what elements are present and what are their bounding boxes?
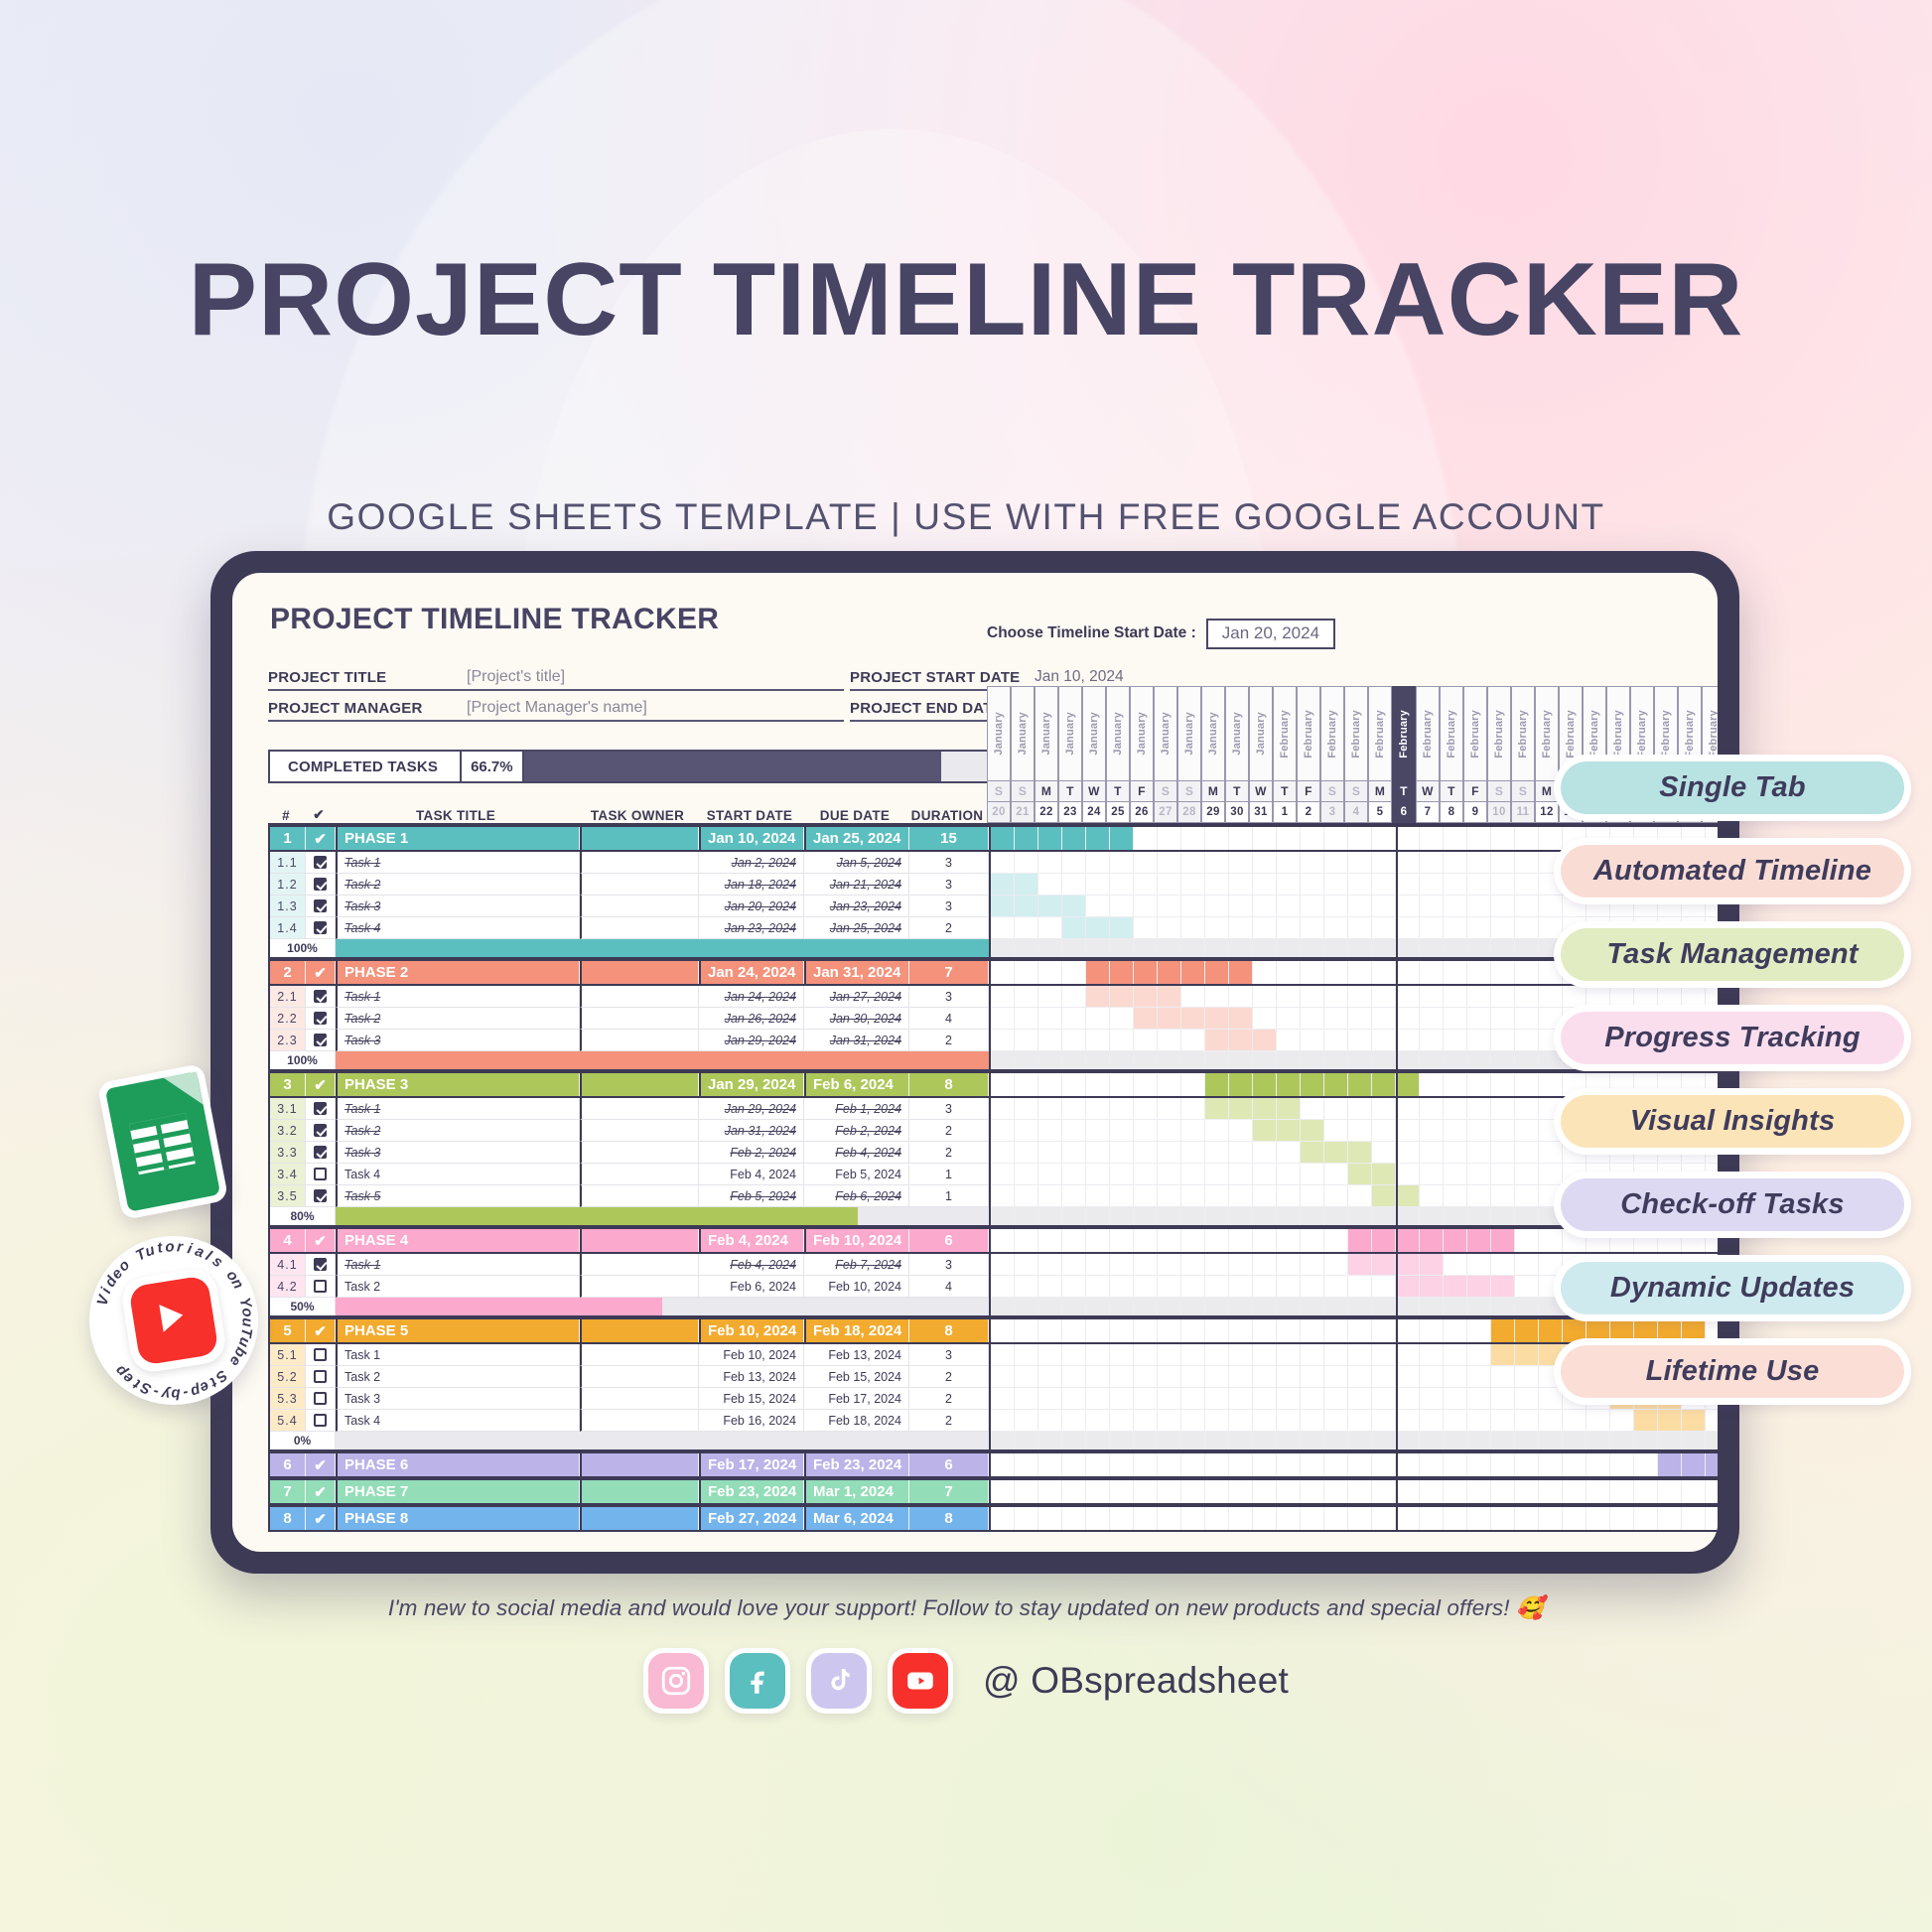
gantt-cell — [1205, 1142, 1229, 1164]
gantt-cell — [1110, 1073, 1134, 1096]
task-number: 5.4 — [270, 1410, 306, 1432]
social-handle: @ OBspreadsheet — [983, 1660, 1289, 1702]
phase-due-date: Feb 6, 2024 — [804, 1073, 909, 1096]
phase-duration: 8 — [909, 1319, 989, 1342]
gantt-cell — [1158, 1388, 1181, 1410]
task-duration: 3 — [909, 986, 989, 1008]
calendar-weekday-cell: S — [987, 781, 1011, 802]
gantt-cell — [1277, 874, 1301, 896]
gantt-cell — [1062, 1432, 1086, 1449]
task-checkbox[interactable] — [306, 1008, 336, 1030]
gantt-cell — [1134, 1185, 1158, 1207]
gantt-cell — [991, 1098, 1015, 1120]
checkbox-icon — [314, 899, 327, 912]
gantt-cell — [1515, 939, 1539, 957]
phase-start-date: Feb 27, 2024 — [699, 1507, 804, 1530]
gantt-cell — [1491, 852, 1515, 874]
gantt-cell — [1181, 896, 1205, 917]
task-owner[interactable] — [580, 1164, 699, 1185]
gantt-cell — [1205, 827, 1229, 850]
gantt-cell — [1348, 827, 1372, 850]
gantt-cell — [1158, 1120, 1181, 1142]
task-row[interactable]: 5.2Task 2Feb 13, 2024Feb 15, 20242 — [270, 1366, 989, 1388]
task-row[interactable]: 2.2Task 2Jan 26, 2024Jan 30, 20244 — [270, 1008, 989, 1030]
gantt-cell — [1134, 1319, 1158, 1342]
gantt-cell — [1229, 827, 1253, 850]
gantt-cell — [1444, 1344, 1467, 1366]
gantt-cell — [991, 1229, 1015, 1252]
gantt-cell — [1372, 1229, 1396, 1252]
phase-progress-fill — [336, 1298, 662, 1315]
checkbox-icon — [314, 1146, 327, 1159]
feature-badge[interactable]: Visual Insights — [1554, 1088, 1911, 1155]
gantt-cell — [1086, 1229, 1110, 1252]
task-due-date: Jan 5, 2024 — [804, 852, 909, 874]
phase-due-date: Feb 10, 2024 — [804, 1229, 909, 1252]
phase-number: 4 — [270, 1229, 306, 1252]
gantt-cell — [1277, 1319, 1301, 1342]
task-start-date: Jan 29, 2024 — [699, 1030, 804, 1051]
task-row[interactable]: 3.3Task 3Feb 2, 2024Feb 4, 20242 — [270, 1142, 989, 1164]
feature-badge[interactable]: Automated Timeline — [1554, 838, 1911, 904]
gantt-cell — [1134, 986, 1158, 1008]
gantt-cell — [1062, 1388, 1086, 1410]
task-owner[interactable] — [580, 1142, 699, 1164]
task-owner[interactable] — [580, 874, 699, 896]
task-checkbox[interactable] — [306, 1098, 336, 1120]
calendar-weekday-cell: S — [1154, 781, 1177, 802]
calendar-month-cell: January — [1130, 686, 1154, 781]
task-checkbox[interactable] — [306, 917, 336, 939]
gantt-cell — [1158, 827, 1181, 850]
gantt-cell — [1038, 1185, 1062, 1207]
gantt-cell — [1086, 1344, 1110, 1366]
task-row[interactable]: 5.4Task 4Feb 16, 2024Feb 18, 20242 — [270, 1410, 989, 1432]
calendar-day-cell: 10 — [1487, 802, 1511, 823]
gantt-cell — [1324, 874, 1348, 896]
gantt-cell — [1444, 1164, 1467, 1185]
gantt-cell — [1015, 827, 1038, 850]
calendar-column: FebruaryT1 — [1273, 686, 1297, 823]
phase-duration: 8 — [909, 1073, 989, 1096]
gantt-cell — [1467, 1432, 1491, 1449]
gantt-cell — [1706, 1432, 1718, 1449]
phase-row[interactable]: 6✔PHASE 6Feb 17, 2024Feb 23, 20246 — [270, 1451, 989, 1478]
gantt-cell — [1062, 917, 1086, 939]
phase-title: PHASE 8 — [336, 1507, 580, 1530]
gantt-cell — [1515, 1142, 1539, 1164]
gantt-cell — [1610, 1432, 1634, 1449]
task-row[interactable]: 5.1Task 1Feb 10, 2024Feb 13, 20243 — [270, 1344, 989, 1366]
gantt-cell — [1015, 1298, 1038, 1315]
gantt-cell — [1086, 852, 1110, 874]
choose-date-label: Choose Timeline Start Date : — [987, 624, 1196, 642]
feature-badge[interactable]: Single Tab — [1554, 755, 1911, 821]
task-title: Task 1 — [336, 1344, 580, 1366]
gantt-cell — [1396, 896, 1420, 917]
gantt-cell — [1348, 1164, 1372, 1185]
gantt-cell — [1134, 1366, 1158, 1388]
gantt-cell — [1491, 1051, 1515, 1069]
phase-start-date: Jan 10, 2024 — [699, 827, 804, 850]
gantt-cell — [1444, 1298, 1467, 1315]
phase-owner — [580, 1319, 699, 1342]
task-title: Task 2 — [336, 874, 580, 896]
gantt-cell — [1372, 939, 1396, 957]
gantt-cell — [1158, 986, 1181, 1008]
gantt-cell — [1420, 1030, 1444, 1051]
task-owner[interactable] — [580, 1388, 699, 1410]
phase-row[interactable]: 1✔PHASE 1Jan 10, 2024Jan 25, 202415 — [270, 825, 989, 852]
gantt-cell — [1134, 1344, 1158, 1366]
gantt-cell — [1062, 1051, 1086, 1069]
gantt-cell — [1038, 1388, 1062, 1410]
gantt-cell — [1110, 1432, 1134, 1449]
gantt-cell — [1277, 1453, 1301, 1476]
gantt-cell — [1062, 1276, 1086, 1298]
gantt-cell — [1420, 1164, 1444, 1185]
col-header-owner: TASK OWNER — [578, 808, 697, 823]
task-duration: 3 — [909, 1098, 989, 1120]
gantt-cell — [1205, 1229, 1229, 1252]
calendar-month-cell: January — [1249, 686, 1273, 781]
gantt-cell — [1372, 1098, 1396, 1120]
phase-row[interactable]: 3✔PHASE 3Jan 29, 2024Feb 6, 20248 — [270, 1071, 989, 1098]
gantt-cell — [1348, 1480, 1372, 1503]
task-owner[interactable] — [580, 896, 699, 917]
gantt-cell — [1444, 827, 1467, 850]
task-due-date: Jan 25, 2024 — [804, 917, 909, 939]
completed-tasks-fill — [524, 752, 941, 781]
gantt-cell — [1420, 1098, 1444, 1120]
calendar-day-cell: 31 — [1249, 802, 1273, 823]
gantt-cell — [1158, 1098, 1181, 1120]
phase-progress-percent: 0% — [270, 1432, 336, 1449]
task-row[interactable]: 1.3Task 3Jan 20, 2024Jan 23, 20243 — [270, 896, 989, 917]
task-due-date: Feb 18, 2024 — [804, 1410, 909, 1432]
gantt-cell — [1253, 1098, 1277, 1120]
gantt-progress-row — [991, 1432, 1718, 1451]
gantt-cell — [1301, 917, 1324, 939]
phase-title: PHASE 6 — [336, 1453, 580, 1476]
task-owner[interactable] — [580, 1008, 699, 1030]
gantt-cell — [1324, 1073, 1348, 1096]
calendar-month-cell: January — [1201, 686, 1225, 781]
gantt-cell — [1181, 1344, 1205, 1366]
phase-row[interactable]: 8✔PHASE 8Feb 27, 2024Mar 6, 20248 — [270, 1505, 989, 1532]
col-header-due: DUE DATE — [802, 808, 907, 823]
checkbox-icon — [314, 1258, 327, 1271]
feature-badge[interactable]: Progress Tracking — [1554, 1005, 1911, 1071]
task-row[interactable]: 2.1Task 1Jan 24, 2024Jan 27, 20243 — [270, 986, 989, 1008]
task-row[interactable]: 3.1Task 1Jan 29, 2024Feb 1, 20243 — [270, 1098, 989, 1120]
gantt-cell — [1181, 1164, 1205, 1185]
gantt-cell — [1301, 1030, 1324, 1051]
gantt-cell — [1491, 1298, 1515, 1315]
task-owner[interactable] — [580, 986, 699, 1008]
gantt-cell — [991, 1410, 1015, 1432]
gantt-cell — [1015, 1480, 1038, 1503]
gantt-cell — [1467, 1120, 1491, 1142]
gantt-cell — [1229, 1229, 1253, 1252]
task-owner[interactable] — [580, 1276, 699, 1298]
gantt-cell — [991, 1388, 1015, 1410]
gantt-cell — [1396, 986, 1420, 1008]
gantt-cell — [1467, 1098, 1491, 1120]
task-row[interactable]: 2.3Task 3Jan 29, 2024Jan 31, 20242 — [270, 1030, 989, 1051]
task-owner[interactable] — [580, 1185, 699, 1207]
gantt-cell — [1420, 986, 1444, 1008]
task-duration: 2 — [909, 917, 989, 939]
sheet-title: PROJECT TIMELINE TRACKER — [270, 603, 719, 636]
gantt-cell — [1491, 1164, 1515, 1185]
feature-badge[interactable]: Task Management — [1554, 921, 1911, 988]
gantt-cell — [991, 1366, 1015, 1388]
phase-number: 2 — [270, 961, 306, 984]
task-start-date: Jan 20, 2024 — [699, 896, 804, 917]
gantt-cell — [1658, 1432, 1682, 1449]
gantt-cell — [1229, 917, 1253, 939]
task-owner[interactable] — [580, 917, 699, 939]
instagram-icon-glyph — [648, 1653, 704, 1709]
task-owner[interactable] — [580, 1120, 699, 1142]
task-checkbox[interactable] — [306, 1185, 336, 1207]
gantt-cell — [1467, 1480, 1491, 1503]
task-checkbox[interactable] — [306, 1366, 336, 1388]
gantt-cell — [1205, 939, 1229, 957]
phase-duration: 15 — [909, 827, 989, 850]
youtube-social-icon[interactable] — [888, 1648, 953, 1714]
gantt-cell — [1253, 1073, 1277, 1096]
gantt-cell — [1324, 961, 1348, 984]
task-owner[interactable] — [580, 1410, 699, 1432]
gantt-cell — [1015, 1254, 1038, 1276]
gantt-cell — [1086, 1276, 1110, 1298]
task-checkbox[interactable] — [306, 852, 336, 874]
task-owner[interactable] — [580, 1366, 699, 1388]
task-row[interactable]: 1.2Task 2Jan 18, 2024Jan 21, 20243 — [270, 874, 989, 896]
gantt-cell — [1110, 1051, 1134, 1069]
gantt-cell — [1086, 1432, 1110, 1449]
task-row[interactable]: 5.3Task 3Feb 15, 2024Feb 17, 20242 — [270, 1388, 989, 1410]
gantt-cell — [1491, 1120, 1515, 1142]
phase-row[interactable]: 4✔PHASE 4Feb 4, 2024Feb 10, 20246 — [270, 1227, 989, 1254]
gantt-cell — [1348, 874, 1372, 896]
phase-check-icon: ✔ — [306, 1507, 336, 1530]
gantt-cell — [1277, 1298, 1301, 1315]
gantt-cell — [1277, 1254, 1301, 1276]
task-duration: 3 — [909, 896, 989, 917]
feature-badge[interactable]: Lifetime Use — [1554, 1338, 1911, 1405]
gantt-cell — [1134, 1276, 1158, 1298]
gantt-cell — [991, 1120, 1015, 1142]
gantt-cell — [1229, 1480, 1253, 1503]
task-checkbox[interactable] — [306, 1344, 336, 1366]
gantt-cell — [1324, 1008, 1348, 1030]
task-checkbox[interactable] — [306, 1254, 336, 1276]
task-number: 1.3 — [270, 896, 306, 917]
gantt-cell — [1372, 1344, 1396, 1366]
task-start-date: Jan 18, 2024 — [699, 874, 804, 896]
task-row[interactable]: 3.2Task 2Jan 31, 2024Feb 2, 20242 — [270, 1120, 989, 1142]
gantt-cell — [1301, 1480, 1324, 1503]
gantt-cell — [1396, 1030, 1420, 1051]
task-row[interactable]: 3.5Task 5Feb 5, 2024Feb 6, 20241 — [270, 1185, 989, 1207]
task-owner[interactable] — [580, 852, 699, 874]
task-checkbox[interactable] — [306, 1388, 336, 1410]
gantt-cell — [1015, 1276, 1038, 1298]
gantt-cell — [1324, 1164, 1348, 1185]
phase-progress-row: 100% — [270, 939, 989, 959]
gantt-cell — [1444, 1480, 1467, 1503]
task-owner[interactable] — [580, 1254, 699, 1276]
task-title: Task 3 — [336, 1030, 580, 1051]
task-owner[interactable] — [580, 1030, 699, 1051]
phase-row[interactable]: 7✔PHASE 7Feb 23, 2024Mar 1, 20247 — [270, 1478, 989, 1505]
task-number: 4.2 — [270, 1276, 306, 1298]
gantt-cell — [1444, 1276, 1467, 1298]
phase-progress-track — [336, 1051, 989, 1069]
task-row[interactable]: 1.1Task 1Jan 2, 2024Jan 5, 20243 — [270, 852, 989, 874]
gantt-cell — [1205, 1410, 1229, 1432]
gantt-cell — [1420, 1507, 1444, 1530]
gantt-cell — [1205, 1164, 1229, 1185]
task-title: Task 1 — [336, 852, 580, 874]
gantt-cell — [1181, 939, 1205, 957]
task-duration: 2 — [909, 1366, 989, 1388]
task-row[interactable]: 1.4Task 4Jan 23, 2024Jan 25, 20242 — [270, 917, 989, 939]
task-table: # ✔ TASK TITLE TASK OWNER START DATE DUE… — [268, 797, 1718, 1532]
tiktok-icon[interactable] — [806, 1648, 872, 1714]
gantt-cell — [1491, 1185, 1515, 1207]
phase-duration: 7 — [909, 961, 989, 984]
gantt-cell — [1301, 1185, 1324, 1207]
phase-progress-row: 100% — [270, 1051, 989, 1071]
task-owner[interactable] — [580, 1344, 699, 1366]
feature-badge[interactable]: Dynamic Updates — [1554, 1255, 1911, 1321]
task-checkbox[interactable] — [306, 1120, 336, 1142]
gantt-cell — [1372, 1453, 1396, 1476]
gantt-cell — [1444, 961, 1467, 984]
feature-badge[interactable]: Check-off Tasks — [1554, 1172, 1911, 1238]
facebook-icon[interactable] — [725, 1648, 790, 1714]
gantt-cell — [1515, 1366, 1539, 1388]
gantt-cell — [1158, 1276, 1181, 1298]
gantt-cell — [1324, 1344, 1348, 1366]
gantt-row — [991, 1451, 1718, 1478]
gantt-cell — [1444, 1098, 1467, 1120]
project-manager-value[interactable]: [Project Manager's name] — [467, 699, 647, 717]
task-checkbox[interactable] — [306, 874, 336, 896]
phase-row[interactable]: 2✔PHASE 2Jan 24, 2024Jan 31, 20247 — [270, 959, 989, 986]
gantt-cell — [1324, 1388, 1348, 1410]
task-checkbox[interactable] — [306, 1142, 336, 1164]
instagram-icon[interactable] — [643, 1648, 709, 1714]
gantt-cell — [1467, 1507, 1491, 1530]
gantt-cell — [1491, 1388, 1515, 1410]
gantt-cell — [1467, 1008, 1491, 1030]
gantt-cell — [1158, 1410, 1181, 1432]
gantt-cell — [1062, 1229, 1086, 1252]
gantt-cell — [1205, 917, 1229, 939]
phase-row[interactable]: 5✔PHASE 5Feb 10, 2024Feb 18, 20248 — [270, 1317, 989, 1344]
task-checkbox[interactable] — [306, 1276, 336, 1298]
gantt-cell — [1420, 1254, 1444, 1276]
sticker-char: r — [177, 1239, 184, 1256]
gantt-cell — [1420, 1432, 1444, 1449]
gantt-cell — [1277, 1142, 1301, 1164]
phase-duration: 7 — [909, 1480, 989, 1503]
task-owner[interactable] — [580, 1098, 699, 1120]
task-row[interactable]: 3.4Task 4Feb 4, 2024Feb 5, 20241 — [270, 1164, 989, 1185]
gantt-cell — [1038, 896, 1062, 917]
task-row[interactable]: 4.1Task 1Feb 4, 2024Feb 7, 20243 — [270, 1254, 989, 1276]
phase-progress-fill — [336, 939, 989, 957]
gantt-cell — [1253, 1051, 1277, 1069]
phase-owner — [580, 1507, 699, 1530]
gantt-cell — [1515, 1229, 1539, 1252]
gantt-cell — [991, 939, 1015, 957]
gantt-cell — [1515, 917, 1539, 939]
gantt-cell — [1181, 1051, 1205, 1069]
gantt-cell — [1253, 1480, 1277, 1503]
gantt-cell — [1181, 1254, 1205, 1276]
task-checkbox[interactable] — [306, 1410, 336, 1432]
project-title-row: PROJECT TITLE [Project's title] — [268, 668, 844, 691]
calendar-column: FebruaryS3 — [1320, 686, 1344, 823]
gantt-cell — [1396, 1229, 1420, 1252]
task-checkbox[interactable] — [306, 1164, 336, 1185]
gantt-cell — [1086, 986, 1110, 1008]
gantt-cell — [1205, 986, 1229, 1008]
gantt-cell — [1038, 1098, 1062, 1120]
task-checkbox[interactable] — [306, 986, 336, 1008]
calendar-weekday-cell: W — [1082, 781, 1106, 802]
task-checkbox[interactable] — [306, 1030, 336, 1051]
gantt-cell — [1420, 1142, 1444, 1164]
calendar-month-cell: January — [1011, 686, 1035, 781]
timeline-start-date-input[interactable]: Jan 20, 2024 — [1206, 619, 1335, 649]
task-checkbox[interactable] — [306, 896, 336, 917]
calendar-month-cell: January — [987, 686, 1011, 781]
gantt-cell — [1158, 1030, 1181, 1051]
gantt-cell — [1110, 1142, 1134, 1164]
gantt-cell — [1467, 1410, 1491, 1432]
calendar-column: JanuaryM22 — [1035, 686, 1058, 823]
gantt-cell — [1253, 939, 1277, 957]
project-title-value[interactable]: [Project's title] — [467, 668, 565, 686]
phase-owner — [580, 961, 699, 984]
gantt-cell — [1038, 852, 1062, 874]
task-number: 5.2 — [270, 1366, 306, 1388]
task-row[interactable]: 4.2Task 2Feb 6, 2024Feb 10, 20244 — [270, 1276, 989, 1298]
gantt-cell — [1038, 1319, 1062, 1342]
gantt-cell — [1110, 852, 1134, 874]
gantt-cell — [1015, 1432, 1038, 1449]
gantt-cell — [1253, 1344, 1277, 1366]
calendar-weekday-cell: T — [1106, 781, 1130, 802]
gantt-cell — [1444, 939, 1467, 957]
gantt-cell — [1372, 827, 1396, 850]
gantt-cell — [1420, 1298, 1444, 1315]
gantt-cell — [1158, 1207, 1181, 1225]
gantt-cell — [1467, 852, 1491, 874]
gantt-cell — [1301, 1142, 1324, 1164]
phase-progress-percent: 80% — [270, 1207, 336, 1225]
gantt-cell — [1396, 827, 1420, 850]
gantt-cell — [1134, 939, 1158, 957]
task-start-date: Jan 24, 2024 — [699, 986, 804, 1008]
